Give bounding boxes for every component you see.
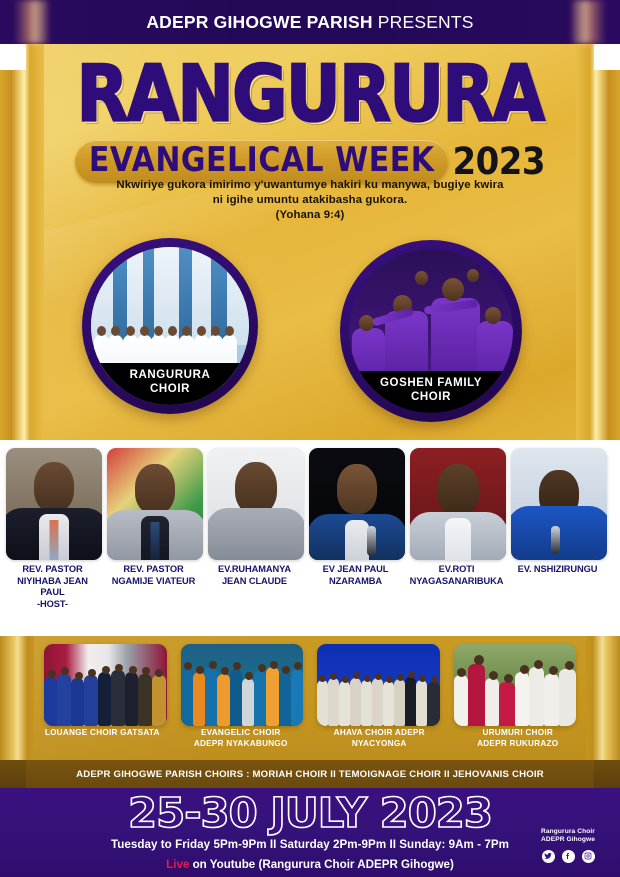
- gallery-photo-3: [317, 644, 440, 726]
- speaker-portrait-2: [107, 448, 203, 560]
- featured-circle-goshen: GOSHEN FAMILY CHOIR: [340, 240, 522, 422]
- parish-choirs-strip: ADEPR GIHOGWE PARISH CHOIRS : MORIAH CHO…: [0, 760, 620, 788]
- speaker-3-line2: JEAN CLAUDE: [222, 576, 287, 586]
- speaker-name-3: EV.RUHAMANYA JEAN CLAUDE: [206, 564, 303, 626]
- parish-choirs-text: ADEPR GIHOGWE PARISH CHOIRS : MORIAH CHO…: [76, 769, 544, 780]
- gallery-photo-4: [454, 644, 577, 726]
- social-links: [526, 850, 610, 863]
- speaker-4-line2: NZARAMBA: [329, 576, 382, 586]
- subtitle-text: EVANGELICAL WEEK: [89, 141, 435, 180]
- speaker-portrait-3: [208, 448, 304, 560]
- page-title: RANGURURA: [0, 52, 620, 137]
- gallery-label-1-line1: LOUANGE CHOIR GATSATA: [45, 728, 160, 737]
- speaker-name-2: REV. PASTOR NGAMIJE VIATEUR: [105, 564, 202, 626]
- scripture-line-2: ni igihe umuntu atakibasha gukora.: [213, 194, 408, 206]
- gallery-photo-1: [44, 644, 167, 726]
- speaker-name-6: EV. NSHIZIRUNGU: [509, 564, 606, 626]
- featured-label-1-line1: RANGURURA: [130, 369, 211, 381]
- presents-label: PRESENTS: [378, 12, 474, 32]
- speaker-3-line1: EV.RUHAMANYA: [218, 564, 291, 574]
- featured-circle-image-2: GOSHEN FAMILY CHOIR: [349, 249, 513, 413]
- instagram-icon[interactable]: [582, 850, 595, 863]
- speaker-4-line1: EV JEAN PAUL: [323, 564, 389, 574]
- speaker-6-line1: EV. NSHIZIRUNGU: [518, 564, 598, 574]
- speaker-portrait-row: [6, 448, 614, 560]
- gallery-photo-2: [181, 644, 304, 726]
- speaker-1-line1: REV. PASTOR: [22, 564, 82, 574]
- featured-label-2-line2: CHOIR: [411, 391, 451, 403]
- presenter-name: ADEPR GIHOGWE PARISH: [146, 12, 372, 32]
- featured-circle-label-2: GOSHEN FAMILY CHOIR: [349, 371, 513, 413]
- gallery-label-4-line1: URUMURI CHOIR: [482, 728, 553, 737]
- speaker-5-line2: NYAGASANARIBUKA: [410, 576, 504, 586]
- gallery-label-3-line1: AHAVA CHOIR ADEPR: [334, 728, 425, 737]
- facebook-icon[interactable]: [562, 850, 575, 863]
- scripture-block: Nkwiriye gukora imirimo y'uwantumye haki…: [60, 178, 560, 223]
- title-year: 2023: [452, 140, 545, 184]
- brand-line-2: ADEPR Gihogwe: [526, 836, 610, 844]
- featured-circle-label-1: RANGURURA CHOIR: [91, 363, 249, 405]
- featured-label-2-line1: GOSHEN FAMILY: [380, 377, 482, 389]
- live-stream-text: on Youtube (Rangurura Choir ADEPR Gihogw…: [189, 858, 454, 871]
- footer-section: 25-30 JULY 2023 Tuesday to Friday 5Pm-9P…: [0, 788, 620, 877]
- speaker-name-1: REV. PASTOR NIYIHABA JEAN PAUL -HOST-: [4, 564, 101, 626]
- gallery-photo-row: [44, 644, 576, 726]
- speaker-1-line2: NIYIHABA JEAN PAUL: [17, 576, 88, 598]
- speaker-2-line2: NGAMIJE VIATEUR: [112, 576, 196, 586]
- featured-label-1-line2: CHOIR: [150, 383, 190, 395]
- poster-root: ADEPR GIHOGWE PARISH PRESENTS RANGURURA …: [0, 0, 620, 877]
- twitter-icon[interactable]: [542, 850, 555, 863]
- speaker-name-5: EV.ROTI NYAGASANARIBUKA: [408, 564, 505, 626]
- speaker-name-4: EV JEAN PAUL NZARAMBA: [307, 564, 404, 626]
- speaker-portrait-5: [410, 448, 506, 560]
- featured-circle-image-1: RANGURURA CHOIR: [91, 247, 249, 405]
- speaker-portrait-1: [6, 448, 102, 560]
- featured-circle-rangurura: RANGURURA CHOIR: [82, 238, 258, 414]
- gallery-label-4-line2: ADEPR RUKURAZO: [477, 739, 558, 748]
- brand-box: Rangurura Choir ADEPR Gihogwe: [526, 828, 610, 863]
- header-bar: ADEPR GIHOGWE PARISH PRESENTS: [0, 0, 620, 44]
- brand-line-1: Rangurura Choir: [526, 828, 610, 836]
- speaker-portrait-6: [511, 448, 607, 560]
- speaker-portrait-4: [309, 448, 405, 560]
- scripture-line-1: Nkwiriye gukora imirimo y'uwantumye haki…: [116, 179, 503, 191]
- live-badge: Live: [166, 858, 189, 871]
- scripture-reference: (Yohana 9:4): [60, 208, 560, 223]
- subtitle-row: EVANGELICAL WEEK 2023: [0, 140, 620, 183]
- speaker-2-line1: REV. PASTOR: [123, 564, 183, 574]
- speaker-1-line3: -HOST-: [37, 599, 68, 609]
- parish-choirs-strip-inner: ADEPR GIHOGWE PARISH CHOIRS : MORIAH CHO…: [26, 760, 594, 788]
- speaker-names-row: REV. PASTOR NIYIHABA JEAN PAUL -HOST- RE…: [4, 564, 616, 626]
- gallery-label-3-line2: NYACYONGA: [352, 739, 407, 748]
- subtitle-pill: EVANGELICAL WEEK: [75, 140, 449, 183]
- title-block: RANGURURA EVANGELICAL WEEK 2023: [0, 52, 620, 183]
- gallery-label-2-line2: ADEPR NYAKABUNGO: [194, 739, 288, 748]
- gallery-label-2-line1: EVANGELIC CHOIR: [201, 728, 281, 737]
- presenter-line: ADEPR GIHOGWE PARISH PRESENTS: [0, 0, 620, 44]
- speakers-section: REV. PASTOR NIYIHABA JEAN PAUL -HOST- RE…: [0, 440, 620, 636]
- speaker-5-line1: EV.ROTI: [439, 564, 475, 574]
